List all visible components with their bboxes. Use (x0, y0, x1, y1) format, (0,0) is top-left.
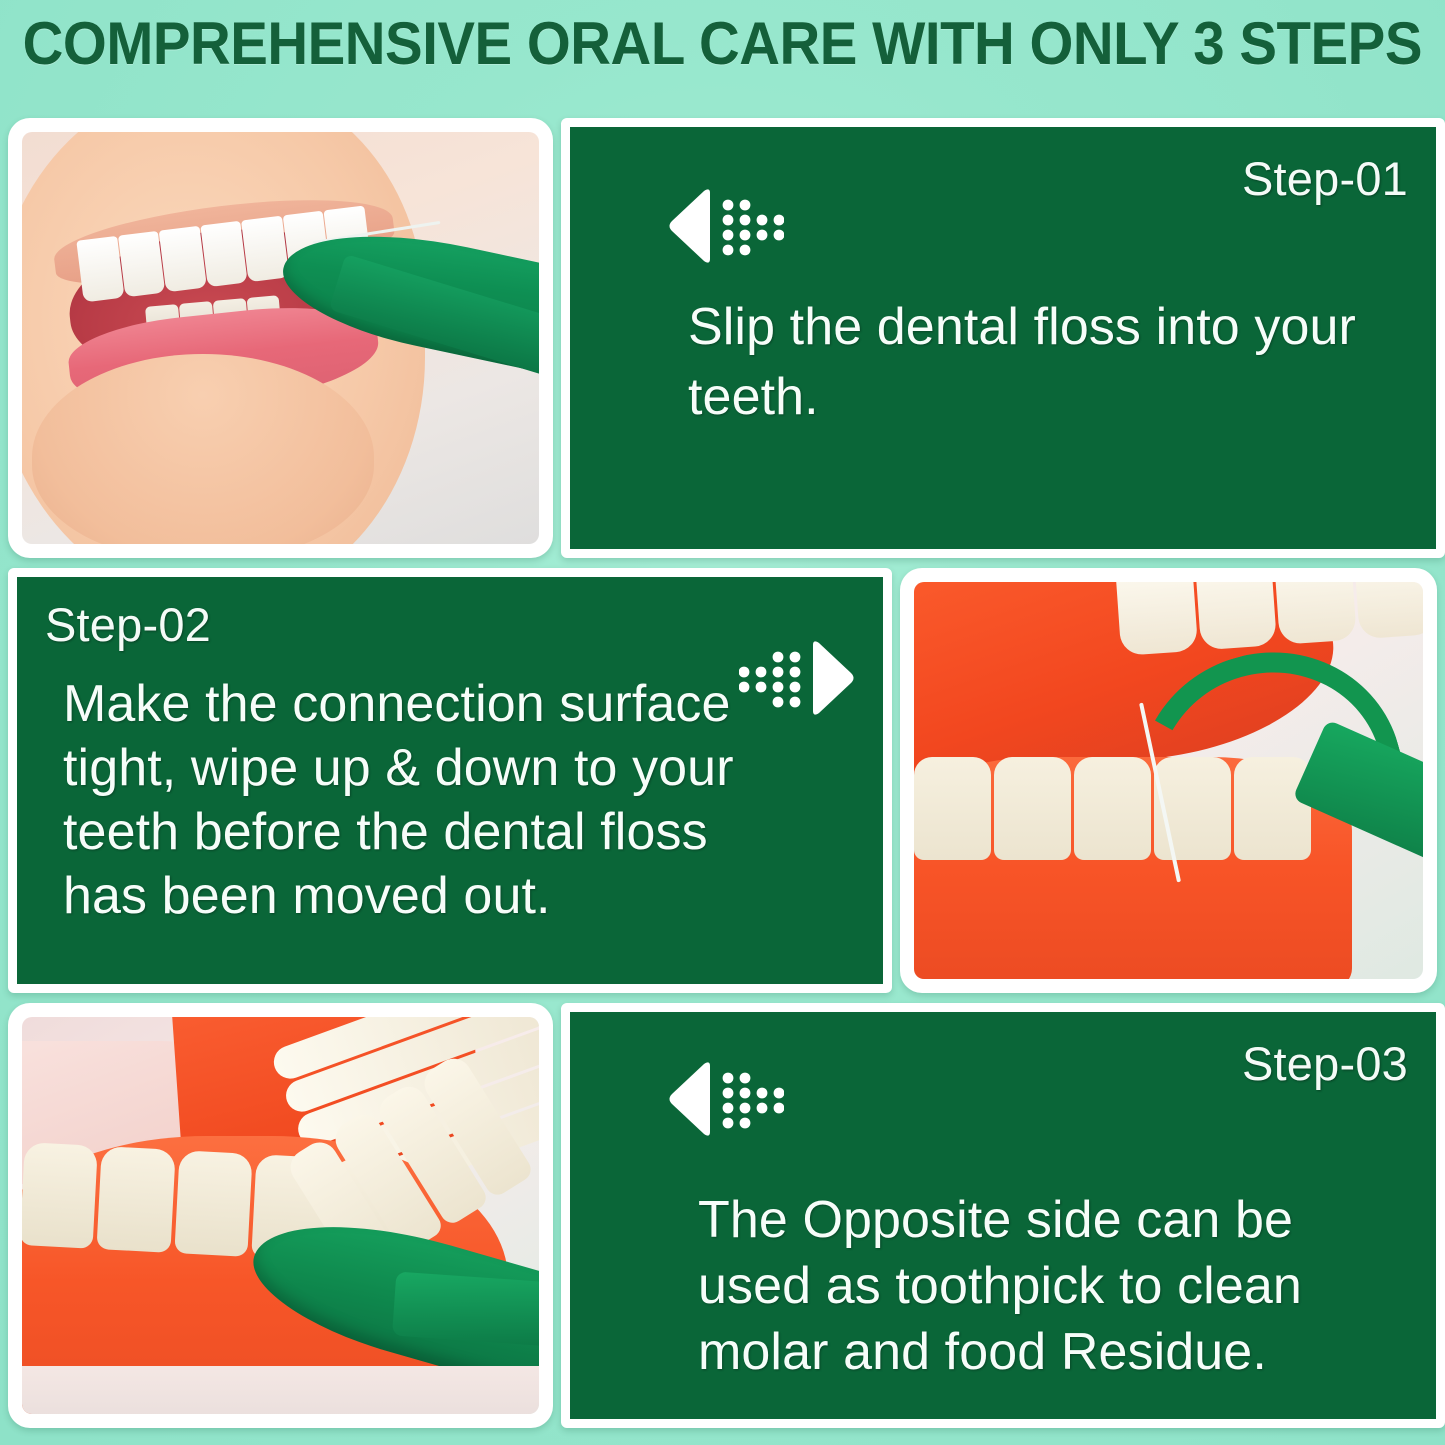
step-1-photo-card (8, 118, 553, 558)
step-2-body: Make the connection surface tight, wipe … (63, 672, 783, 928)
step-row-1: Step-01 Slip the dental floss into your … (0, 118, 1445, 558)
step-3-photo-card (8, 1003, 553, 1428)
step-2-photo-card (900, 568, 1437, 993)
step-1-photo (22, 132, 539, 544)
page-title: COMPREHENSIVE ORAL CARE WITH ONLY 3 STEP… (23, 14, 1422, 74)
step-3-label: Step-03 (1242, 1040, 1408, 1087)
step-row-2: Step-02 Make the connection surface tigh… (0, 568, 1445, 993)
arrow-left-dots-icon (666, 187, 784, 265)
step-1-label: Step-01 (1242, 155, 1408, 202)
header-bar: COMPREHENSIVE ORAL CARE WITH ONLY 3 STEP… (0, 0, 1445, 88)
step-2-panel: Step-02 Make the connection surface tigh… (8, 568, 892, 993)
arrow-left-dots-icon (666, 1060, 784, 1138)
step-2-photo (914, 582, 1423, 979)
step-1-body: Slip the dental floss into your teeth. (688, 292, 1368, 432)
step-1-panel: Step-01 Slip the dental floss into your … (561, 118, 1445, 558)
step-3-photo (22, 1017, 539, 1414)
step-3-body: The Opposite side can be used as toothpi… (698, 1187, 1378, 1385)
step-3-panel: Step-03 The Opposite side can be used as… (561, 1003, 1445, 1428)
step-row-3: Step-03 The Opposite side can be used as… (0, 1003, 1445, 1428)
step-2-label: Step-02 (45, 601, 211, 648)
infographic-root: COMPREHENSIVE ORAL CARE WITH ONLY 3 STEP… (0, 0, 1445, 1445)
